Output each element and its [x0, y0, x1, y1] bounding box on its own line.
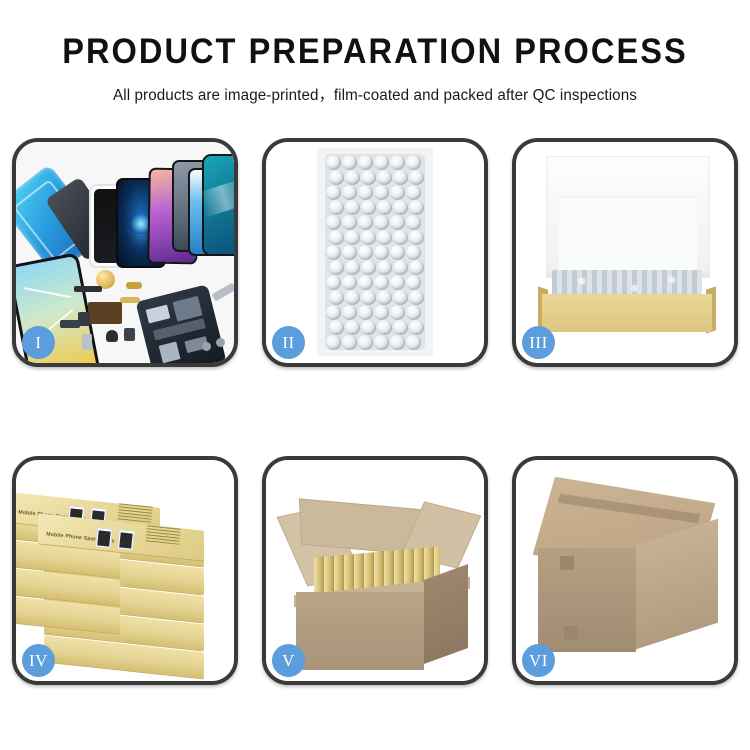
- bubble: [358, 305, 373, 320]
- bubble: [361, 170, 376, 185]
- carton-front-panel: [296, 592, 424, 670]
- bubble: [390, 245, 405, 260]
- bubble: [361, 260, 376, 275]
- bubble: [409, 200, 424, 215]
- bubble: [393, 170, 408, 185]
- bubble: [390, 215, 405, 230]
- page-subtitle: All products are image-printed，film-coat…: [8, 83, 743, 105]
- bubble: [342, 305, 357, 320]
- bubble: [358, 215, 373, 230]
- step-badge-4: IV: [22, 644, 55, 677]
- bubble: [361, 290, 376, 305]
- teal-phone: [202, 154, 234, 256]
- bubble: [406, 215, 421, 230]
- box-front-panel: [542, 294, 712, 332]
- bubble: [377, 290, 392, 305]
- bubble: [390, 155, 405, 170]
- bubble: [409, 170, 424, 185]
- page-title: PRODUCT PREPARATION PROCESS: [26, 34, 724, 69]
- bubble: [390, 275, 405, 290]
- bubble: [361, 230, 376, 245]
- bubble: [345, 320, 360, 335]
- bubble: [393, 290, 408, 305]
- bubble: [329, 200, 344, 215]
- bubble: [374, 305, 389, 320]
- bubble: [406, 245, 421, 260]
- bubble: [358, 335, 373, 350]
- bubble: [342, 185, 357, 200]
- bubble: [326, 185, 341, 200]
- bubble: [406, 335, 421, 350]
- step-panel-5: V: [262, 456, 488, 685]
- bubble: [377, 230, 392, 245]
- step-badge-2: II: [272, 326, 305, 359]
- bubble: [393, 320, 408, 335]
- step-panel-1: I: [12, 138, 238, 367]
- box-lid: [546, 156, 710, 278]
- bubble: [326, 275, 341, 290]
- bubble: [345, 260, 360, 275]
- bubble: [393, 200, 408, 215]
- bubble: [326, 215, 341, 230]
- bubble: [374, 275, 389, 290]
- bubble: [409, 290, 424, 305]
- bubble: [409, 320, 424, 335]
- step-badge-3: III: [522, 326, 555, 359]
- bubble: [374, 245, 389, 260]
- bubble: [406, 305, 421, 320]
- bubble: [345, 200, 360, 215]
- bubble: [406, 275, 421, 290]
- bubble: [329, 290, 344, 305]
- bubble: [342, 335, 357, 350]
- bubble: [345, 230, 360, 245]
- bubble: [409, 260, 424, 275]
- step-badge-6: VI: [522, 644, 555, 677]
- bubble: [342, 275, 357, 290]
- box-artwork-screen: [117, 529, 135, 551]
- bubble: [358, 155, 373, 170]
- bubble: [393, 260, 408, 275]
- bubble: [374, 185, 389, 200]
- bubble: [409, 230, 424, 245]
- step-panel-6: VI: [512, 456, 738, 685]
- bubble: [329, 230, 344, 245]
- steps-grid: I II III Mobile Phone Spare PartsM: [12, 138, 738, 685]
- bubble: [377, 260, 392, 275]
- box-artwork-screen: [95, 527, 113, 549]
- step-panel-2: II: [262, 138, 488, 367]
- bubble: [326, 155, 341, 170]
- carton-side-panel: [424, 564, 468, 664]
- bubble: [377, 170, 392, 185]
- bubble: [329, 320, 344, 335]
- bubble: [374, 335, 389, 350]
- bubble: [377, 320, 392, 335]
- bubble: [326, 335, 341, 350]
- bubble: [390, 335, 405, 350]
- product-preparation-infographic: PRODUCT PREPARATION PROCESS All products…: [0, 0, 750, 750]
- bubble: [406, 155, 421, 170]
- carton-hand-hole-lower: [564, 626, 578, 640]
- step-panel-4: Mobile Phone Spare PartsMobile Phone Spa…: [12, 456, 238, 685]
- step-badge-5: V: [272, 644, 305, 677]
- step-badge-1: I: [22, 326, 55, 359]
- bubble: [326, 305, 341, 320]
- bubble: [406, 185, 421, 200]
- bubble: [326, 245, 341, 260]
- bubble: [358, 185, 373, 200]
- bubble-wrapped-product: [325, 154, 425, 350]
- bubble: [342, 215, 357, 230]
- box-spec-lines: [145, 525, 181, 546]
- bubble: [329, 260, 344, 275]
- bubble: [361, 200, 376, 215]
- carton-front-panel: [538, 548, 636, 652]
- bubble: [374, 155, 389, 170]
- bubble: [393, 230, 408, 245]
- bubble: [358, 245, 373, 260]
- bubble: [390, 305, 405, 320]
- bubble: [342, 155, 357, 170]
- bubble: [345, 290, 360, 305]
- bubble: [345, 170, 360, 185]
- header: PRODUCT PREPARATION PROCESS All products…: [0, 0, 750, 105]
- bubble: [390, 185, 405, 200]
- step-panel-3: III: [512, 138, 738, 367]
- bubble: [374, 215, 389, 230]
- bubble: [358, 275, 373, 290]
- bubble: [329, 170, 344, 185]
- carton-hand-hole-upper: [560, 556, 574, 570]
- bubble: [342, 245, 357, 260]
- bubble: [361, 320, 376, 335]
- bubble: [377, 200, 392, 215]
